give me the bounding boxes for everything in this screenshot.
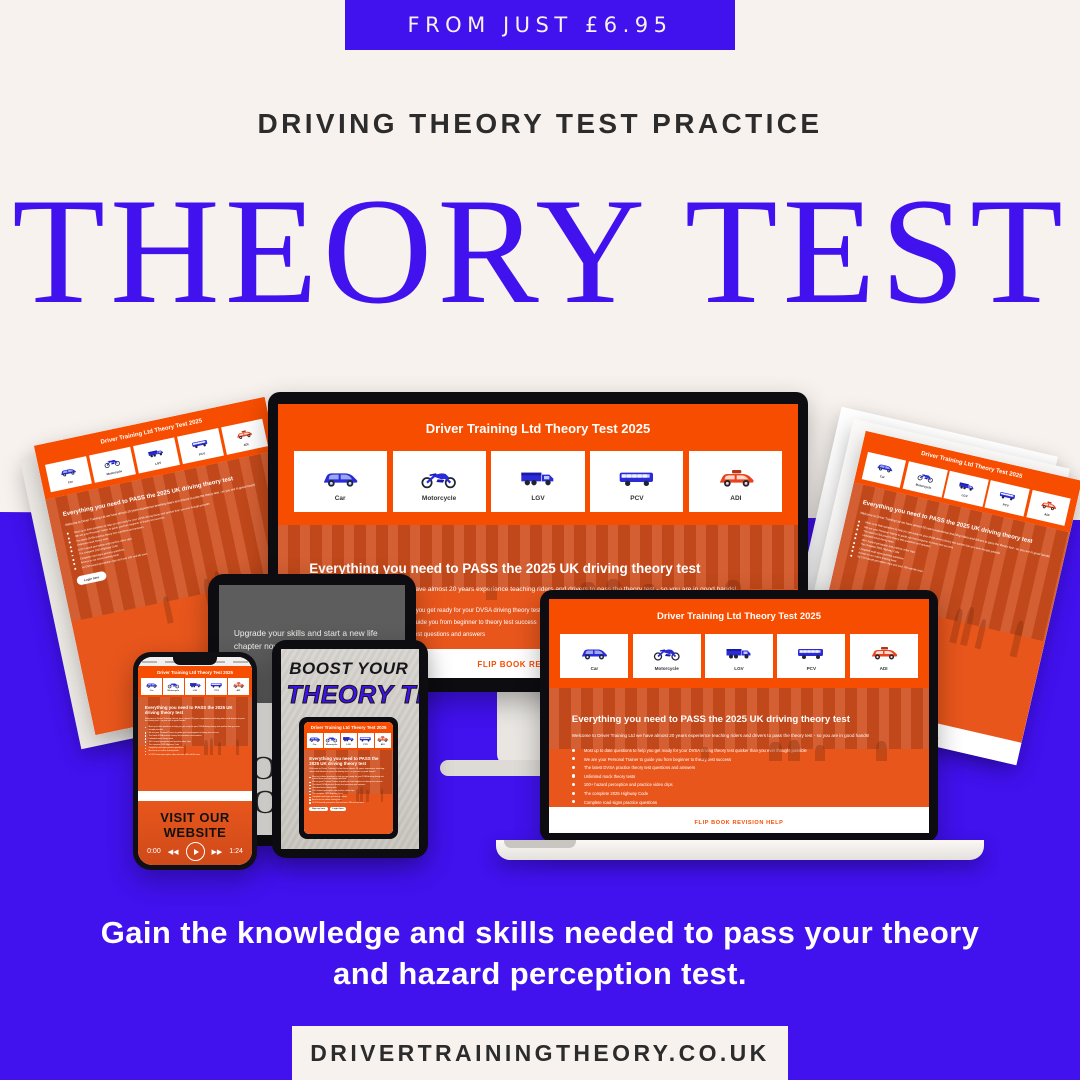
category-label: PCV (363, 744, 368, 746)
pedestrian-silhouette (815, 745, 825, 762)
laptop-screen: Driver Training Ltd Theory Test 2025 Car… (549, 599, 929, 833)
category-tile-lgv[interactable]: LGV (185, 678, 205, 695)
visit-website-text: VISIT OUR WEBSITE (138, 810, 252, 840)
laptop: Driver Training Ltd Theory Test 2025 Car… (540, 590, 938, 842)
category-tile-adi[interactable]: ADI (228, 678, 248, 695)
tablet-boost: BOOST YOUR THEORY TEST Driver Training L… (272, 640, 428, 858)
category-tile-lgv[interactable]: LGV (491, 451, 584, 512)
category-tile-pcv[interactable]: PCV (590, 451, 683, 512)
bus-icon (617, 466, 657, 490)
category-label: Car (313, 744, 317, 746)
phone-site-region: Driver Training Ltd Theory Test 2025 Car… (138, 666, 252, 791)
category-tiles: CarMotorcycleLGVPCVADI (278, 451, 798, 512)
category-tile-adi[interactable]: ADI (221, 418, 268, 455)
site-title: Driver Training Ltd Theory Test 2025 (138, 670, 252, 675)
pedestrian-silhouette (184, 744, 187, 754)
category-tile-motorcycle[interactable]: Motorcycle (633, 634, 701, 679)
lorry-icon (189, 681, 202, 689)
instructor-car-icon (376, 735, 389, 743)
category-label: Motorcycle (326, 744, 338, 746)
site-hero: Everything you need to PASS the 2025 UK … (549, 688, 929, 807)
category-tile-lgv[interactable]: LGV (944, 471, 989, 507)
bus-icon (210, 681, 223, 689)
site-footer-label: FLIP BOOK REVISION HELP (695, 820, 784, 826)
category-label: Car (591, 666, 599, 671)
hero-intro: Welcome to Driver Training Ltd we have a… (145, 718, 245, 724)
category-label: ADI (381, 744, 385, 746)
site-header: Driver Training Ltd Theory Test 2025 Car… (549, 599, 929, 688)
website-mock-phone: Driver Training Ltd Theory Test 2025 Car… (138, 666, 252, 791)
hero-heading: Everything you need to PASS the 2025 UK … (309, 756, 388, 766)
category-tile-lgv[interactable]: LGV (133, 437, 180, 474)
instructor-car-icon (716, 466, 756, 490)
price-banner: FROM JUST £6.95 (345, 0, 735, 50)
bus-icon (190, 437, 210, 452)
website-mock-inner: Driver Training Ltd Theory Test 2025 Car… (304, 722, 393, 834)
motorcycle-icon (652, 644, 682, 662)
bus-icon (359, 735, 372, 743)
pedestrian-silhouette (360, 787, 363, 802)
category-label: LGV (346, 744, 351, 746)
hero-heading: Everything you need to PASS the 2025 UK … (572, 714, 906, 725)
car-icon (874, 460, 894, 475)
lorry-icon (342, 735, 355, 743)
feature-list: Most up to date questions to help you ge… (572, 748, 906, 807)
motorcycle-icon (167, 681, 180, 689)
category-tile-motorcycle[interactable]: Motorcycle (89, 446, 136, 483)
category-tile-car[interactable]: Car (45, 456, 92, 493)
category-label: Car (67, 479, 73, 484)
lorry-icon (146, 446, 166, 461)
category-tile-pcv[interactable]: PCV (777, 634, 845, 679)
video-time-total: 1:24 (229, 848, 243, 855)
feature-list: Most up to date questions to help you ge… (309, 776, 388, 805)
category-label: LGV (155, 460, 162, 465)
category-label: ADI (880, 666, 888, 671)
hero-intro: Welcome to Driver Training Ltd we have a… (572, 733, 906, 739)
site-header: Driver Training Ltd Theory Test 2025 Car… (138, 666, 252, 697)
site-header: Driver Training Ltd Theory Test 2025 Car… (278, 404, 798, 525)
category-label: PCV (214, 690, 219, 692)
category-tile-adi[interactable]: ADI (850, 634, 918, 679)
phone-screen: Driver Training Ltd Theory Test 2025 Car… (138, 657, 252, 865)
cta-row: Sign up here Login here (309, 807, 388, 811)
category-label: ADI (243, 442, 249, 447)
category-tile-motorcycle[interactable]: Motorcycle (393, 451, 486, 512)
feature-item: Complete road signs practice questions (572, 800, 906, 805)
category-label: Car (150, 690, 154, 692)
category-tile-motorcycle[interactable]: Motorcycle (163, 678, 183, 695)
smartphone: Driver Training Ltd Theory Test 2025 Car… (133, 652, 257, 870)
website-url-plate[interactable]: DRIVERTRAININGTHEORY.CO.UK (292, 1026, 788, 1080)
instructor-car-icon (1039, 498, 1059, 513)
category-tile-lgv[interactable]: LGV (705, 634, 773, 679)
category-label: PCV (1002, 503, 1009, 508)
category-tile-car[interactable]: Car (307, 733, 323, 748)
category-tile-car[interactable]: Car (560, 634, 628, 679)
pedestrian-silhouette (366, 790, 368, 802)
tablet-boost-bezel: BOOST YOUR THEORY TEST Driver Training L… (272, 640, 428, 858)
site-hero: Everything you need to PASS the 2025 UK … (304, 750, 393, 834)
category-tiles: CarMotorcycleLGVPCVADI (549, 634, 929, 679)
page-title: THEORY TEST (0, 176, 1080, 326)
feature-item: 54 CGI hazard perception clips and over … (309, 802, 388, 805)
motorcycle-icon (102, 455, 122, 470)
video-controls[interactable]: 0:00 ◀◀ ▶▶ 1:24 (138, 842, 252, 861)
lorry-icon (724, 644, 754, 662)
website-url-label: DRIVERTRAININGTHEORY.CO.UK (310, 1040, 769, 1067)
category-tile-pcv[interactable]: PCV (206, 678, 226, 695)
category-label: Motorcycle (168, 690, 180, 692)
site-header: Driver Training Ltd Theory Test 2025 Car… (304, 722, 393, 750)
category-label: Motorcycle (422, 495, 456, 502)
category-label: LGV (961, 493, 968, 498)
site-hero: Everything you need to PASS the 2025 UK … (138, 697, 252, 790)
lorry-icon (518, 466, 558, 490)
boost-line-1: BOOST YOUR (289, 659, 408, 679)
site-title: Driver Training Ltd Theory Test 2025 (549, 611, 929, 622)
pedestrian-silhouette (204, 740, 208, 755)
category-tiles: CarMotorcycleLGVPCVADI (138, 678, 252, 695)
category-label: PCV (199, 451, 206, 456)
website-mock-laptop: Driver Training Ltd Theory Test 2025 Car… (549, 599, 929, 833)
hero-heading: Everything you need to PASS the 2025 UK … (145, 705, 245, 715)
promo-poster: FROM JUST £6.95 DRIVING THEORY TEST PRAC… (0, 0, 1080, 1080)
pedestrian-silhouette (486, 587, 497, 601)
feature-item: We are your Personal Trainer to guide yo… (572, 757, 906, 762)
feature-item: Most up to date questions to help you ge… (145, 726, 245, 731)
car-icon (58, 465, 78, 480)
login-button[interactable]: Login here (330, 807, 347, 811)
pedestrian-silhouette (769, 742, 781, 761)
login-button[interactable]: Login here (76, 571, 107, 586)
pedestrian-silhouette (701, 747, 709, 760)
category-label: Car (879, 475, 885, 480)
phone-bezel: Driver Training Ltd Theory Test 2025 Car… (133, 652, 257, 870)
feature-item: Most up to date questions to help you ge… (572, 748, 906, 753)
feature-list: Most up to date questions to help you ge… (145, 726, 245, 756)
category-label: Car (335, 495, 346, 502)
site-title: Driver Training Ltd Theory Test 2025 (278, 421, 798, 436)
pedestrian-silhouette (218, 742, 221, 755)
motorcycle-icon (325, 735, 338, 743)
category-tile-adi[interactable]: ADI (689, 451, 782, 512)
motorcycle-icon (419, 466, 459, 490)
feature-item: 54 CGI hazard perception clips and over … (145, 754, 245, 757)
pedestrian-silhouette (876, 741, 887, 761)
video-time-elapsed: 0:00 (147, 848, 161, 855)
inner-phone-mock: Driver Training Ltd Theory Test 2025 Car… (299, 717, 398, 839)
pedestrian-silhouette (356, 789, 359, 802)
feature-item: The complete 2025 Highway Code (572, 791, 906, 796)
category-tile-pcv[interactable]: PCV (358, 733, 374, 748)
next-icon[interactable]: ▶▶ (212, 848, 223, 856)
laptop-trackpad-notch (504, 840, 576, 848)
category-tile-motorcycle[interactable]: Motorcycle (324, 733, 340, 748)
car-icon (145, 681, 158, 689)
prev-icon[interactable]: ◀◀ (168, 848, 179, 856)
category-label: LGV (193, 690, 198, 692)
category-tile-pcv[interactable]: PCV (177, 428, 224, 465)
site-title: Driver Training Ltd Theory Test 2025 (304, 725, 393, 730)
eyebrow-text: DRIVING THEORY TEST PRACTICE (0, 108, 1080, 140)
instructor-car-icon (869, 644, 899, 662)
phone-video-overlay[interactable]: VISIT OUR WEBSITE 0:00 ◀◀ ▶▶ 1:24 (138, 801, 252, 865)
category-tile-car[interactable]: Car (861, 452, 906, 488)
hero-intro: Welcome to Driver Training Ltd we have a… (309, 768, 388, 774)
pedestrian-silhouette (340, 792, 342, 801)
category-tile-pcv[interactable]: PCV (985, 480, 1030, 516)
feature-item: 100+ hazard perception and practice vide… (572, 782, 906, 787)
category-label: LGV (734, 666, 743, 671)
pedestrian-silhouette (788, 740, 799, 761)
category-label: ADI (1044, 513, 1050, 518)
pedestrian-silhouette (210, 738, 213, 755)
site-footer: FLIP BOOK REVISION HELP (549, 807, 929, 833)
category-label: LGV (531, 495, 544, 502)
category-tile-car[interactable]: Car (141, 678, 161, 695)
category-tile-adi[interactable]: ADI (1026, 490, 1071, 526)
category-tile-motorcycle[interactable]: Motorcycle (903, 461, 948, 497)
category-label: ADI (730, 495, 741, 502)
play-icon[interactable] (186, 842, 205, 861)
feature-item: Unlimited mock theory tests (572, 774, 906, 779)
category-label: PCV (630, 495, 643, 502)
category-label: Motorcycle (915, 483, 931, 490)
car-icon (320, 466, 360, 490)
category-tile-adi[interactable]: ADI (375, 733, 391, 748)
category-tile-lgv[interactable]: LGV (341, 733, 357, 748)
feature-item: The latest DVSA practice theory test que… (572, 765, 906, 770)
lorry-icon (957, 479, 977, 494)
category-label: Motorcycle (655, 666, 679, 671)
price-banner-label: FROM JUST £6.95 (407, 13, 672, 37)
tablet-boost-screen: BOOST YOUR THEORY TEST Driver Training L… (281, 649, 419, 849)
motorcycle-icon (916, 470, 936, 485)
car-icon (579, 644, 609, 662)
phone-notch (173, 657, 217, 665)
signup-button[interactable]: Sign up here (309, 807, 328, 811)
bus-icon (998, 489, 1018, 504)
bus-icon (796, 644, 826, 662)
instructor-car-icon (232, 681, 245, 689)
boost-line-2: THEORY TEST (287, 681, 419, 710)
car-icon (308, 735, 321, 743)
category-label: ADI (236, 690, 240, 692)
category-tile-car[interactable]: Car (294, 451, 387, 512)
category-label: PCV (807, 666, 816, 671)
category-label: Motorcycle (106, 469, 122, 476)
tagline-text: Gain the knowledge and skills needed to … (90, 912, 990, 994)
instructor-car-icon (234, 427, 254, 442)
category-tiles: CarMotorcycleLGVPCVADI (304, 733, 393, 748)
laptop-bezel: Driver Training Ltd Theory Test 2025 Car… (540, 590, 938, 842)
